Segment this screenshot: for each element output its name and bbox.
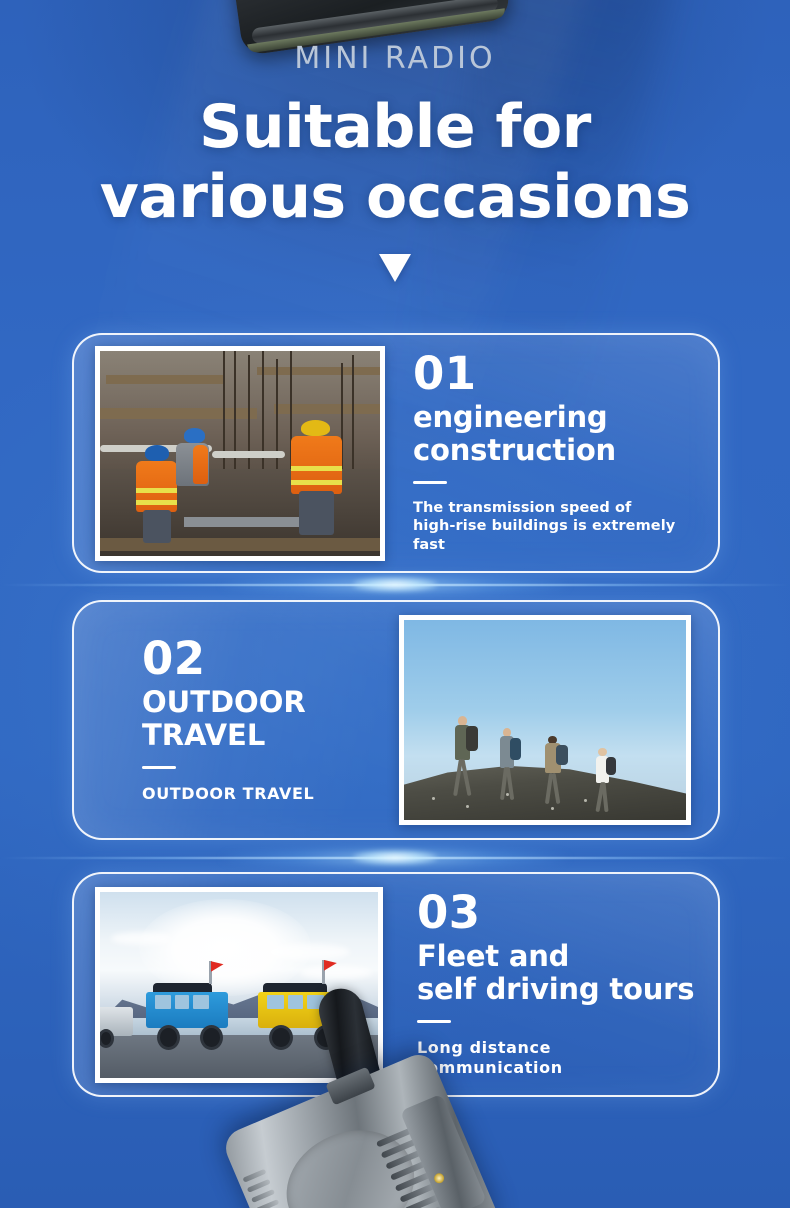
card-title-line-1: OUTDOOR xyxy=(142,686,381,719)
radio-side-panel xyxy=(400,1093,488,1208)
card-caption: Long distance communication xyxy=(417,1038,700,1079)
card-caption-line-1: OUTDOOR TRAVEL xyxy=(142,784,381,804)
beam-hotspot xyxy=(353,851,437,864)
beam-glow xyxy=(221,574,569,596)
card-title-line-1: Fleet and xyxy=(417,940,700,973)
radio-top-lip xyxy=(251,0,499,45)
feature-card-01[interactable]: 01 engineering construction The transmis… xyxy=(72,333,720,573)
beam-glow xyxy=(221,847,569,869)
feature-card-03[interactable]: 03 Fleet and self driving tours Long dis… xyxy=(72,872,720,1097)
beam-hotspot xyxy=(353,578,437,591)
hiking-photo-frame xyxy=(399,615,691,825)
title-rule-divider xyxy=(417,1020,451,1023)
eyebrow-label: MINI RADIO xyxy=(0,41,790,76)
title-rule-divider xyxy=(142,766,176,769)
card-caption: OUTDOOR TRAVEL xyxy=(142,784,381,804)
light-beam-divider-1 xyxy=(0,572,790,598)
beam-line xyxy=(0,857,790,859)
triangle-down-icon xyxy=(379,254,411,282)
card-caption: The transmission speed of high-rise buil… xyxy=(413,499,700,555)
radio-fins-right xyxy=(376,1127,451,1208)
page-title: Suitable for various occasions xyxy=(0,92,790,232)
card-number: 01 xyxy=(413,351,700,396)
card-caption-line-1: Long distance communication xyxy=(417,1038,700,1079)
card-title-line-2: self driving tours xyxy=(417,973,700,1006)
radio-speaker-circle xyxy=(269,1111,431,1208)
beam-line xyxy=(0,584,790,586)
feature-card-02[interactable]: 02 OUTDOOR TRAVEL OUTDOOR TRAVEL xyxy=(72,600,720,840)
card-title-line-1: engineering xyxy=(413,401,700,434)
headline-line-2: various occasions xyxy=(0,162,790,232)
card-title-line-2: construction xyxy=(413,434,700,467)
radio-fins-left xyxy=(242,1168,303,1208)
card-caption-line-2: high-rise buildings is extremely fast xyxy=(413,517,700,554)
offroad-suv-convoy-photo xyxy=(100,892,378,1078)
construction-photo-frame xyxy=(95,346,385,561)
headline-line-1: Suitable for xyxy=(0,92,790,162)
card-number: 02 xyxy=(142,636,381,681)
card-title: OUTDOOR TRAVEL xyxy=(142,686,381,752)
card-title: Fleet and self driving tours xyxy=(417,940,700,1006)
radio-led-icon xyxy=(432,1172,445,1185)
suv-photo-frame xyxy=(95,887,383,1083)
card-title: engineering construction xyxy=(413,401,700,467)
light-beam-divider-2 xyxy=(0,845,790,871)
title-rule-divider xyxy=(413,481,447,484)
marketing-page: MINI RADIO Suitable for various occasion… xyxy=(0,0,790,1208)
card-caption-line-1: The transmission speed of xyxy=(413,499,700,518)
card-number: 03 xyxy=(417,890,700,935)
construction-site-workers-photo xyxy=(100,351,380,556)
card-title-line-2: TRAVEL xyxy=(142,719,381,752)
hikers-mountain-ridge-photo xyxy=(404,620,686,820)
